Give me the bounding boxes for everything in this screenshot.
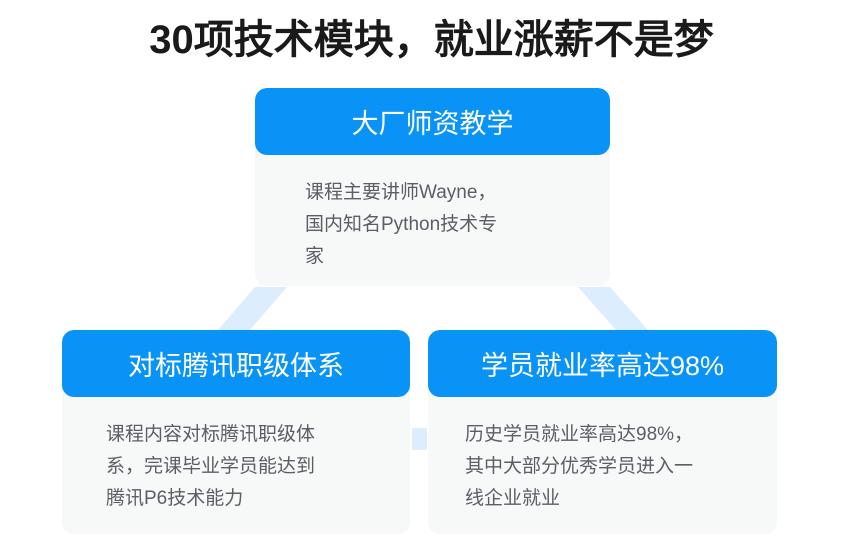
card-bottom-right-body: 历史学员就业率高达98%， 其中大部分优秀学员进入一 线企业就业 (428, 397, 777, 534)
card-bottom-right-body-line: 线企业就业 (465, 483, 777, 515)
card-bottom-right-body-line: 其中大部分优秀学员进入一 (465, 451, 777, 483)
card-top-body-line: 课程主要讲师Wayne， (305, 177, 610, 209)
card-bottom-right-body-line: 历史学员就业率高达98%， (465, 419, 777, 451)
connector-top-to-bottom-right (578, 287, 648, 330)
card-top-body-line: 家 (305, 241, 610, 273)
card-bottom-right-header: 学员就业率高达98% (428, 330, 777, 397)
card-bottom-left-header: 对标腾讯职级体系 (62, 330, 410, 397)
card-bottom-left-body-line: 课程内容对标腾讯职级体 (106, 419, 410, 451)
page-title: 30项技术模块，就业涨薪不是梦 (0, 14, 863, 66)
card-bottom-right[interactable]: 学员就业率高达98% 历史学员就业率高达98%， 其中大部分优秀学员进入一 线企… (428, 330, 777, 534)
card-bottom-left-body-line: 腾讯P6技术能力 (106, 483, 410, 515)
connector-top-to-bottom-left (218, 287, 287, 330)
card-top-header: 大厂师资教学 (255, 88, 610, 155)
card-top-body: 课程主要讲师Wayne， 国内知名Python技术专 家 (255, 155, 610, 286)
connector-center-stub (412, 428, 427, 450)
card-top[interactable]: 大厂师资教学 课程主要讲师Wayne， 国内知名Python技术专 家 (255, 88, 610, 286)
card-bottom-left[interactable]: 对标腾讯职级体系 课程内容对标腾讯职级体 系，完课毕业学员能达到 腾讯P6技术能… (62, 330, 410, 534)
card-bottom-left-body: 课程内容对标腾讯职级体 系，完课毕业学员能达到 腾讯P6技术能力 (62, 397, 410, 534)
infographic-root: 30项技术模块，就业涨薪不是梦 大厂师资教学 课程主要讲师Wayne， 国内知名… (0, 0, 863, 548)
card-bottom-left-body-line: 系，完课毕业学员能达到 (106, 451, 410, 483)
card-top-body-line: 国内知名Python技术专 (305, 209, 610, 241)
